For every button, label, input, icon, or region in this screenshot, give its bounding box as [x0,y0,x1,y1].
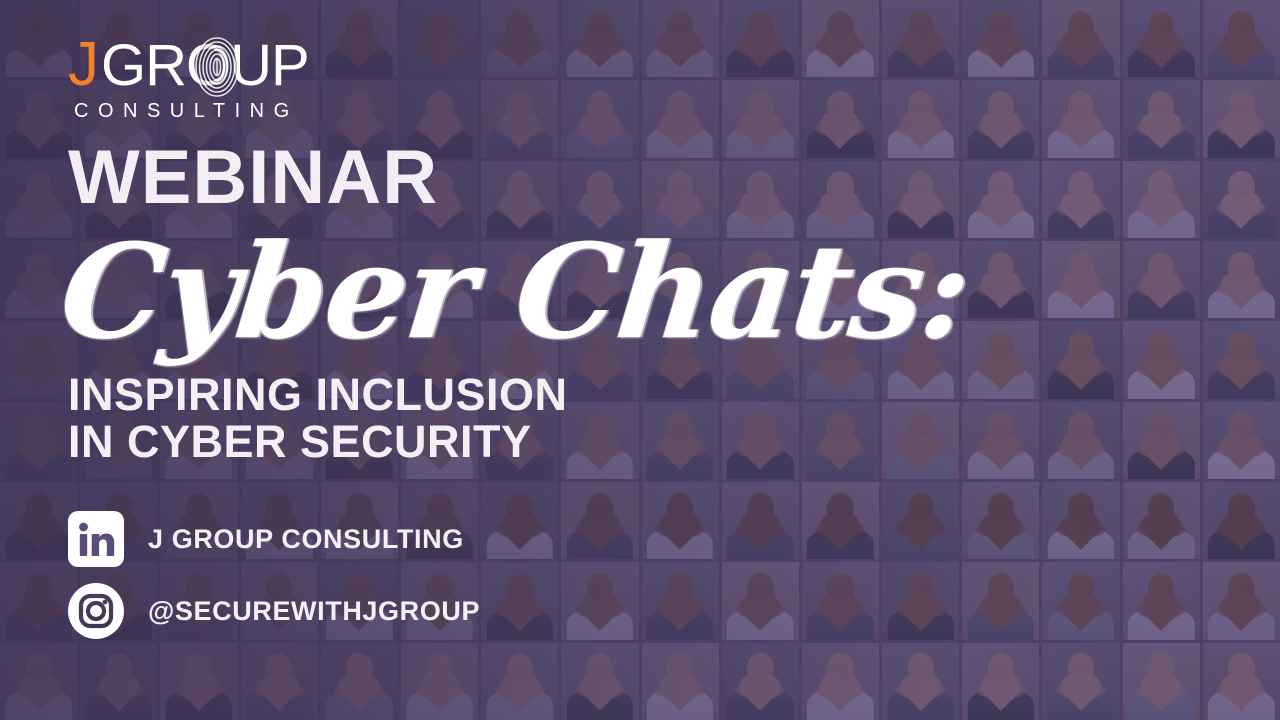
subtitle-block: INSPIRING INCLUSION IN CYBER SECURITY [68,372,1280,465]
linkedin-icon[interactable] [68,511,124,567]
social-label-instagram: @SECUREWITHJGROUP [148,596,480,627]
eyebrow-webinar: WEBINAR [68,140,1280,216]
logo-subtitle: CONSULTING [68,100,368,123]
subtitle-line-2: IN CYBER SECURITY [68,419,1280,465]
webinar-promo-graphic: J GROUP [0,0,1280,720]
jgroup-logo: J GROUP [68,34,368,126]
content-layer: J GROUP [0,0,1280,720]
social-links: J GROUP CONSULTING @SECUREWITHJGROUP [68,511,1280,639]
logo-letter-j: J [68,34,101,96]
logo-text-group: GROUP [101,37,309,95]
subtitle-line-1: INSPIRING INCLUSION [68,372,1280,418]
logo-wordmark: J GROUP [68,34,368,92]
social-label-linkedin: J GROUP CONSULTING [148,524,464,555]
instagram-icon[interactable] [68,583,124,639]
script-headline: Cyber Chats: [55,222,1280,362]
social-row-instagram[interactable]: @SECUREWITHJGROUP [68,583,1280,639]
social-row-linkedin[interactable]: J GROUP CONSULTING [68,511,1280,567]
